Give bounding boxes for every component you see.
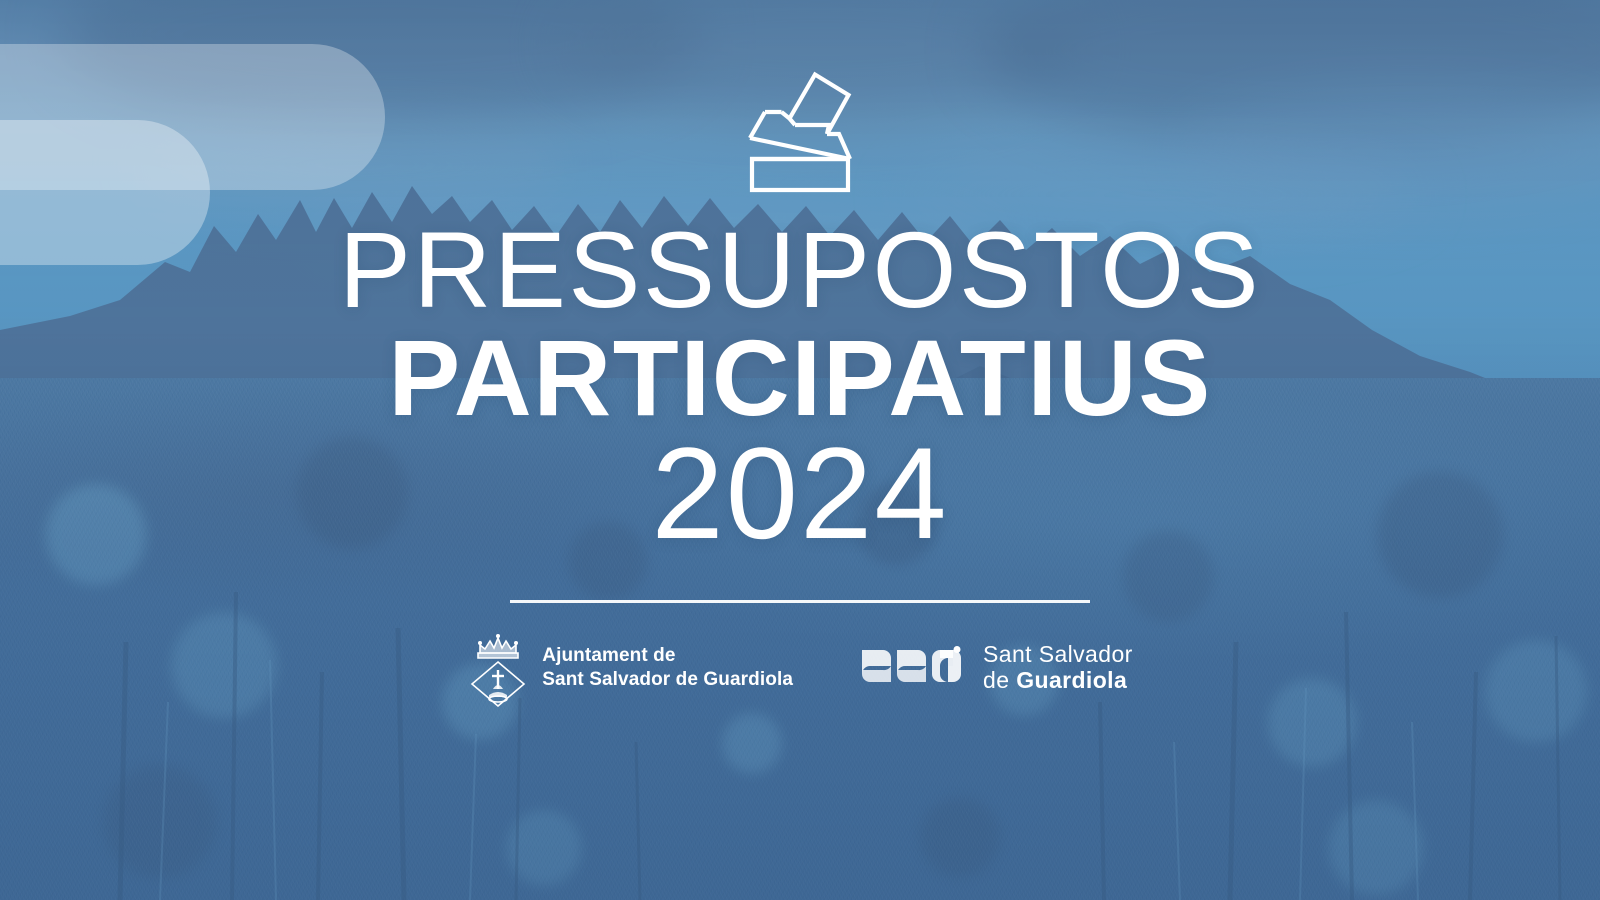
ssg-text: Sant Salvador de Guardiola [983, 642, 1133, 694]
ajuntament-logo: Ajuntament de Sant Salvador de Guardiola [467, 629, 793, 707]
coat-of-arms-crown-icon [467, 629, 529, 707]
title-year: 2024 [339, 431, 1261, 556]
title-block: PRESSUPOSTOS PARTICIPATIUS 2024 [339, 218, 1261, 556]
logo-row: Ajuntament de Sant Salvador de Guardiola [467, 629, 1132, 707]
ssg-line-2-bold: Guardiola [1016, 667, 1127, 693]
poster-content: PRESSUPOSTOS PARTICIPATIUS 2024 [0, 0, 1600, 900]
divider-rule [510, 600, 1090, 603]
ballot-box-icon [745, 62, 855, 194]
ssg-monogram-icon [859, 646, 969, 690]
title-line-2: PARTICIPATIUS [339, 326, 1261, 430]
ssg-line-2: de Guardiola [983, 668, 1133, 694]
ssg-line-2-light: de [983, 667, 1016, 693]
title-line-1: PRESSUPOSTOS [339, 218, 1261, 322]
ssg-logo: Sant Salvador de Guardiola [859, 642, 1133, 694]
ajuntament-text: Ajuntament de Sant Salvador de Guardiola [542, 644, 793, 692]
poster-canvas: PRESSUPOSTOS PARTICIPATIUS 2024 [0, 0, 1600, 900]
ajuntament-line-2: Sant Salvador de Guardiola [542, 668, 793, 692]
ajuntament-line-1: Ajuntament de [542, 644, 793, 668]
ssg-line-1: Sant Salvador [983, 642, 1133, 668]
